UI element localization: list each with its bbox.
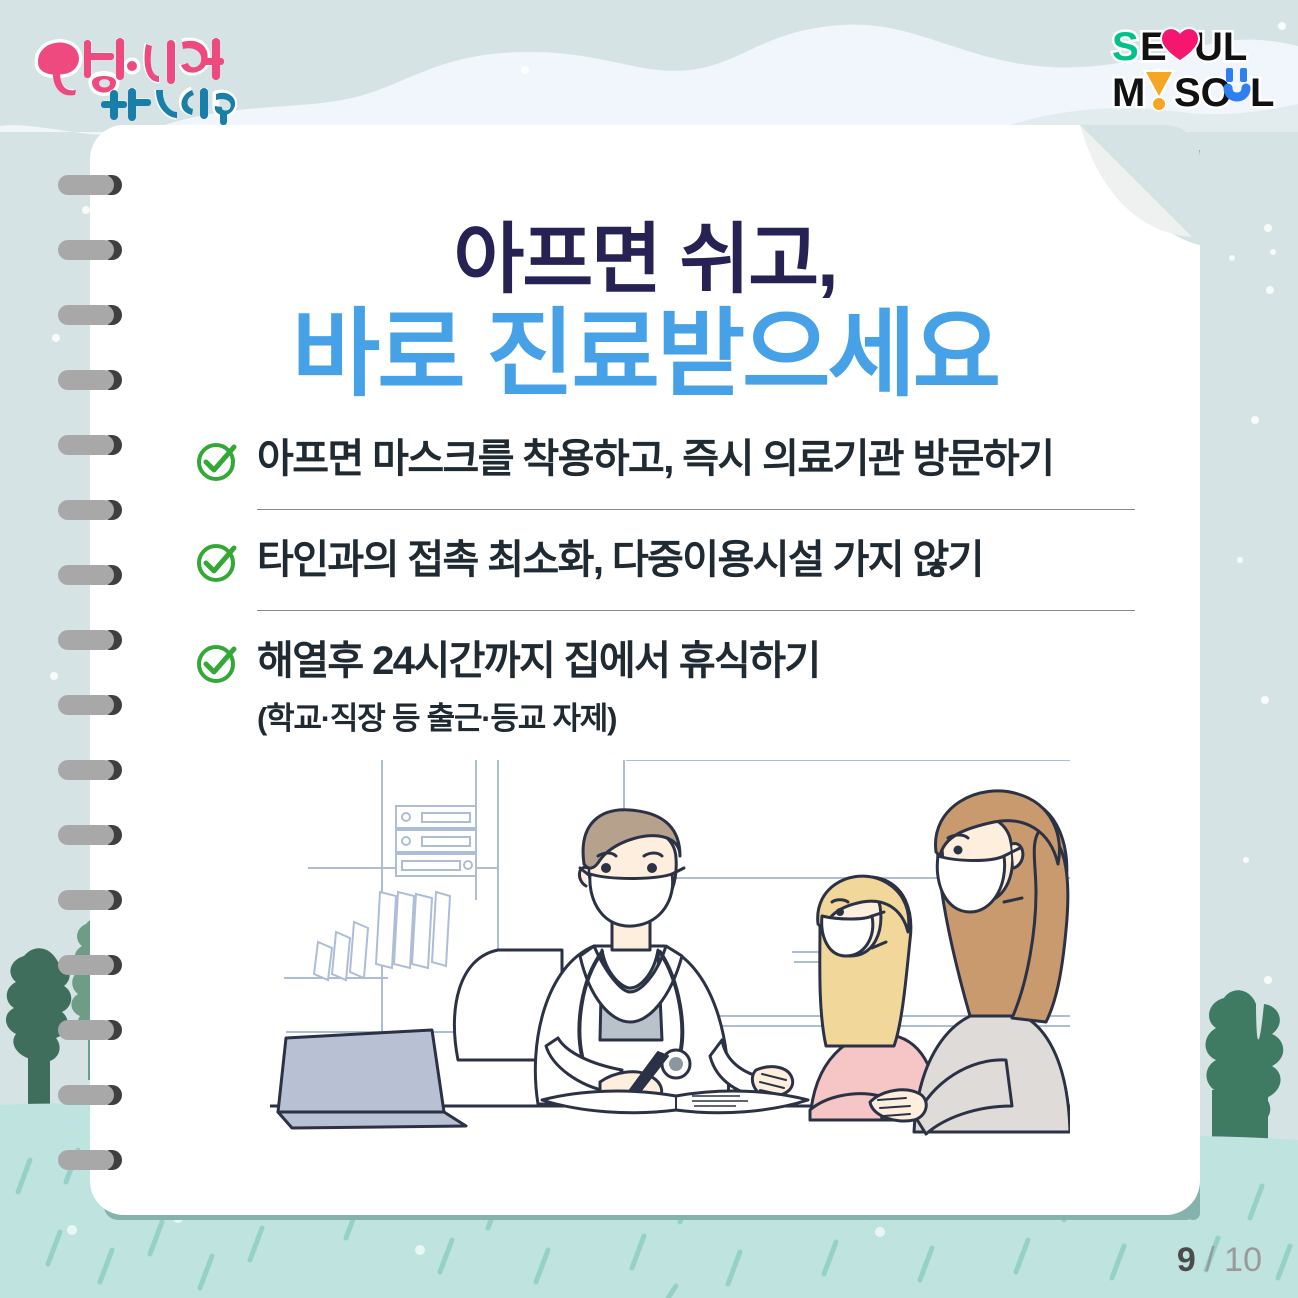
logo-letter-m: M <box>1112 71 1145 114</box>
checklist-item-text: 해열후 24시간까지 집에서 휴식하기 <box>257 637 820 685</box>
binding-ring <box>58 370 122 390</box>
content-card: 아프면 쉬고, 바로 진료받으세요 아프면 마스크를 착용하고, 즉시 의료기관… <box>90 125 1200 1215</box>
logo-letters-ul: UL <box>1194 25 1247 69</box>
doctor-mask <box>590 874 673 926</box>
binding-ring <box>58 630 122 650</box>
page-current: 9 <box>1177 1241 1196 1279</box>
laptop-base <box>278 1112 466 1128</box>
page-indicator: 9 / 10 <box>1177 1241 1262 1280</box>
stethoscope-bell-inner <box>669 1057 683 1071</box>
checklist: 아프면 마스크를 착용하고, 즉시 의료기관 방문하기 타인과의 접촉 최소화,… <box>195 435 1135 738</box>
check-circle-icon <box>195 641 239 685</box>
spiral-binding <box>0 0 130 1298</box>
binding-ring <box>58 435 122 455</box>
check-circle-icon <box>195 540 239 584</box>
checklist-item-subtext: (학교·직장 등 출근·등교 자제) <box>257 693 820 738</box>
binding-ring <box>58 175 122 195</box>
check-circle-icon <box>195 439 239 483</box>
binding-ring <box>58 825 122 845</box>
seoul-my-soul-logo: S E UL M SO L <box>1110 22 1280 114</box>
checklist-item: 해열후 24시간까지 집에서 휴식하기 (학교·직장 등 출근·등교 자제) <box>195 637 1135 738</box>
checklist-divider <box>257 509 1135 510</box>
logo-heart-icon <box>1162 29 1198 60</box>
binding-ring <box>58 1150 122 1170</box>
doctor-eye-left <box>601 863 611 873</box>
page-total: / 10 <box>1205 1241 1262 1279</box>
binding-ring <box>58 1020 122 1040</box>
binding-ring <box>58 695 122 715</box>
logo-smile-u-icon <box>1228 88 1246 97</box>
child-eye <box>836 908 844 916</box>
laptop <box>278 1030 466 1128</box>
binding-ring <box>58 565 122 585</box>
equipment-rack <box>396 806 476 876</box>
binding-ring <box>58 890 122 910</box>
checklist-item: 아프면 마스크를 착용하고, 즉시 의료기관 방문하기 <box>195 435 1135 483</box>
logo-letter-s-green: S <box>1112 25 1139 69</box>
mother-eye <box>954 846 963 855</box>
notebook <box>542 1091 808 1113</box>
binding-ring <box>58 305 122 325</box>
logo-letter-l2: L <box>1250 71 1274 114</box>
doctor-consulting-masked-patients-illustration <box>270 760 1070 1190</box>
doctor-figure <box>454 810 792 1105</box>
laptop-screen <box>278 1030 444 1112</box>
binding-ring <box>58 500 122 520</box>
logo-smile-eye-left <box>1226 68 1233 82</box>
doctor-eye-right <box>647 863 657 873</box>
binding-ring <box>58 1085 122 1105</box>
logo-smile-eye-right <box>1240 68 1247 82</box>
logo-exclamation-dot-icon <box>1153 98 1165 110</box>
title-line-1: 아프면 쉬고, <box>90 220 1200 301</box>
checklist-item-text: 타인과의 접촉 최소화, 다중이용시설 가지 않기 <box>257 538 983 582</box>
binding-ring <box>58 955 122 975</box>
title-line-2: 바로 진료받으세요 <box>90 303 1200 407</box>
title-block: 아프면 쉬고, 바로 진료받으세요 <box>90 220 1200 407</box>
binding-ring <box>58 240 122 260</box>
logo-exclamation-triangle-icon <box>1146 72 1172 96</box>
logo-letters-so: SO <box>1174 71 1232 114</box>
child-figure <box>810 876 938 1120</box>
checklist-divider <box>257 610 1135 611</box>
checklist-item: 타인과의 접촉 최소화, 다중이용시설 가지 않기 <box>195 536 1135 584</box>
checklist-item-text: 아프면 마스크를 착용하고, 즉시 의료기관 방문하기 <box>257 437 1053 481</box>
binding-ring <box>58 760 122 780</box>
